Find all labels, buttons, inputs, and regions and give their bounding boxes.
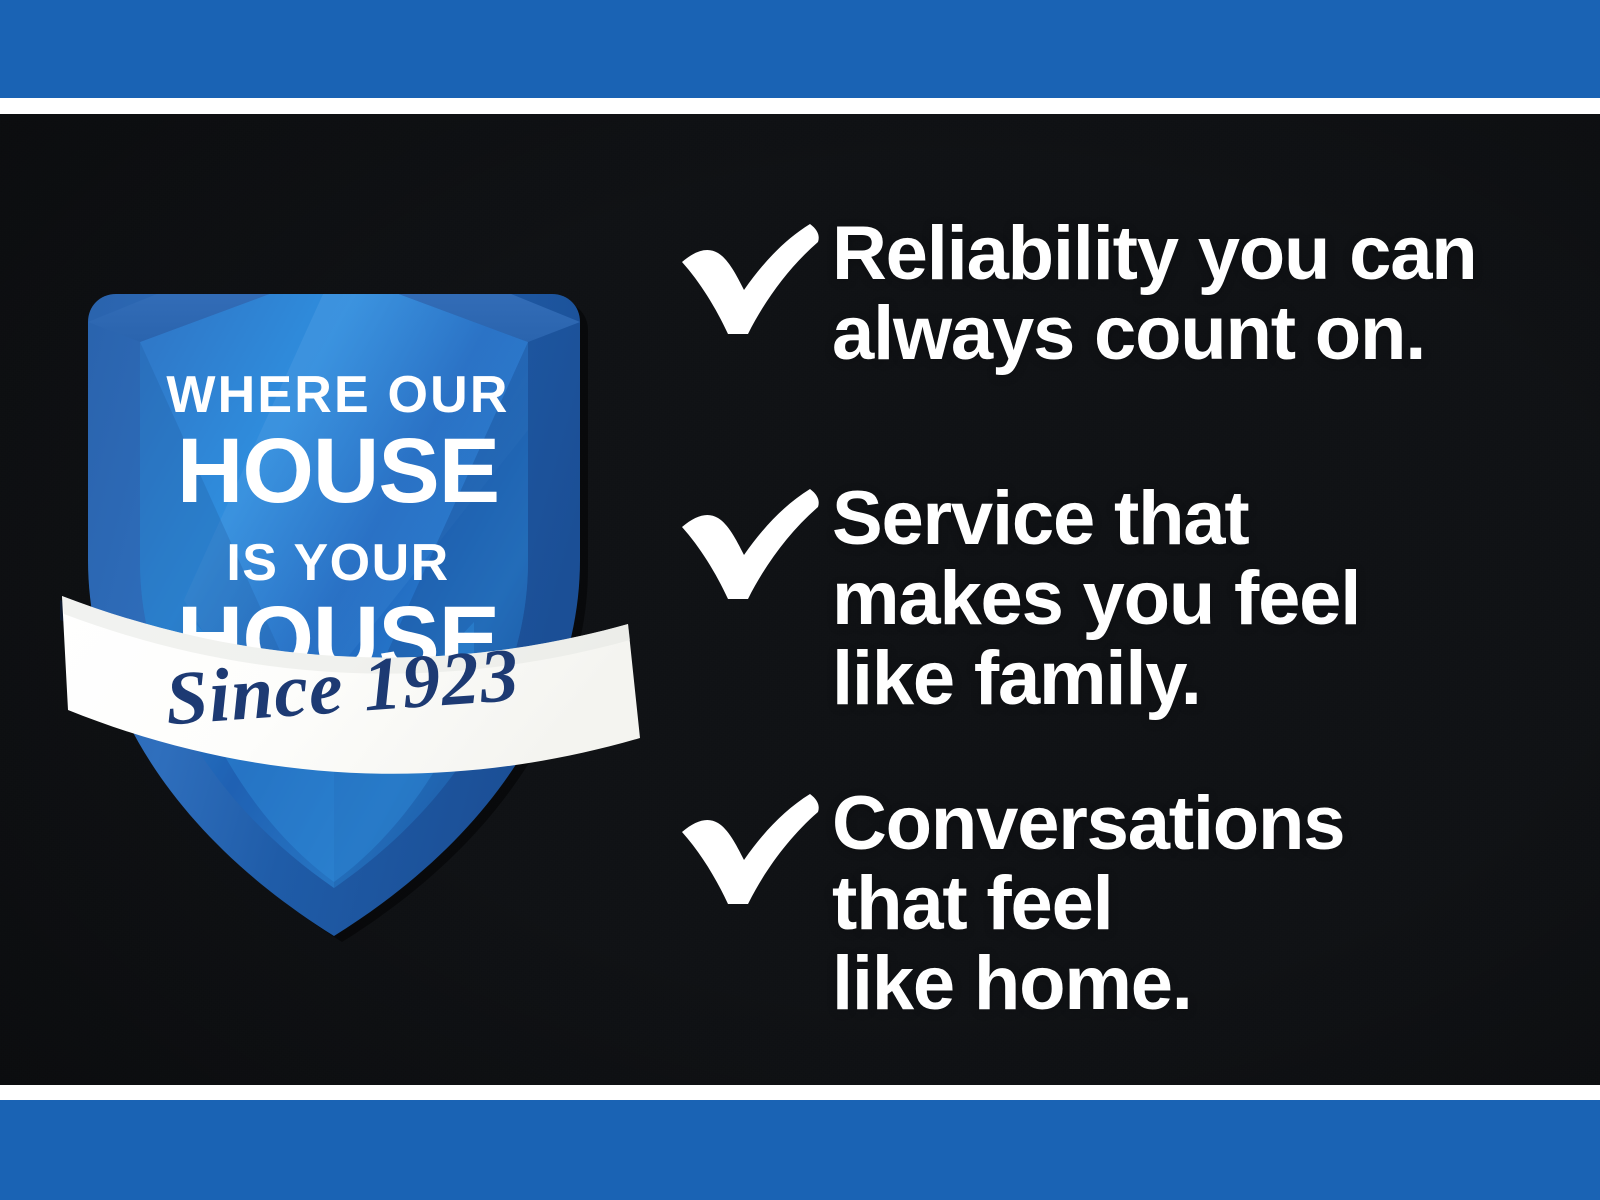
benefit-text-2: Service that makes you feel like family.: [832, 479, 1532, 719]
graphic-canvas: WHERE OUR HOUSE IS YOUR HOUSE Since 1923…: [0, 0, 1600, 1200]
benefit-text-3: Conversations that feel like home.: [832, 784, 1532, 1024]
benefit-text-1: Reliability you can always count on.: [832, 214, 1532, 374]
shield-emblem: WHERE OUR HOUSE IS YOUR HOUSE Since 1923: [44, 130, 664, 970]
top-brand-bar: [0, 0, 1600, 98]
shield-line-0: WHERE OUR: [166, 366, 509, 424]
checkmark-icon: [678, 485, 828, 605]
benefits-list: Reliability you can always count on. Ser…: [660, 114, 1540, 1085]
checkmark-icon: [678, 220, 828, 340]
bottom-brand-bar: [0, 1100, 1600, 1200]
checkmark-icon: [678, 790, 828, 910]
shield-line-1: HOUSE: [177, 420, 499, 522]
shield-line-2: IS YOUR: [226, 534, 449, 592]
